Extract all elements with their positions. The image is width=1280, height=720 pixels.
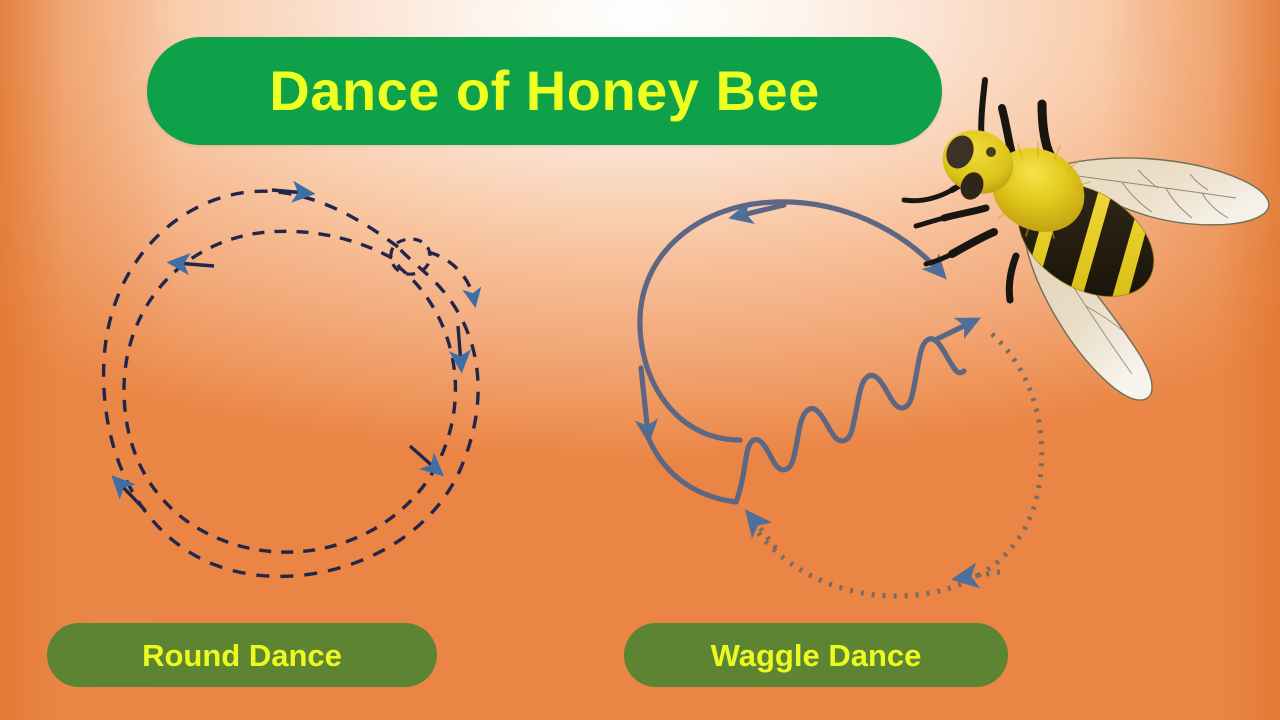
- round-dance-outer-loop: [104, 191, 479, 576]
- arrowhead-icon-lower-right: [410, 446, 437, 470]
- arrowhead-icon-right: [458, 326, 461, 364]
- caption-label-waggle-dance: Waggle Dance: [711, 640, 922, 671]
- round-dance-arrowheads: [118, 190, 461, 510]
- bee-eye-lower: [957, 169, 988, 203]
- title-banner: Dance of Honey Bee: [147, 37, 942, 145]
- bee-eye-upper: [942, 131, 979, 172]
- bee-wing-lower: [1023, 212, 1152, 400]
- arrowhead-icon-waggle-bottom-left: [641, 368, 648, 434]
- arrowhead-icon-top: [272, 190, 306, 193]
- waggle-left-arc: [640, 202, 940, 502]
- caption-pill-round-dance[interactable]: Round Dance: [47, 623, 437, 687]
- arrowhead-icon-waggle-dotted-left: [752, 518, 776, 548]
- bee-abdomen: [998, 160, 1174, 320]
- waggle-run-zigzag: [736, 322, 972, 502]
- waggle-right-arc: [752, 334, 1042, 596]
- page-title: Dance of Honey Bee: [269, 63, 820, 119]
- arrowhead-icon-lower-left: [118, 482, 145, 510]
- arrowhead-icon-waggle-top-left: [738, 205, 784, 216]
- slide-canvas: Dance of Honey Bee Round Dance Waggle Da…: [0, 0, 1280, 720]
- arrowhead-icon-waggle-dotted-right: [962, 572, 1000, 578]
- caption-pill-waggle-dance[interactable]: Waggle Dance: [624, 623, 1008, 687]
- arrowhead-icon-waggle-run: [935, 322, 972, 340]
- bee-wing-upper: [1058, 158, 1269, 225]
- bee-head: [933, 120, 1023, 204]
- round-dance-tail: [428, 252, 474, 300]
- caption-label-round-dance: Round Dance: [142, 640, 342, 671]
- arrowhead-icon-upper-left: [176, 263, 214, 266]
- bee-thorax: [977, 132, 1099, 248]
- honey-bee-illustration: [890, 60, 1280, 440]
- round-dance-crossing-loop: [391, 239, 430, 274]
- round-dance-inner-loop: [124, 231, 455, 552]
